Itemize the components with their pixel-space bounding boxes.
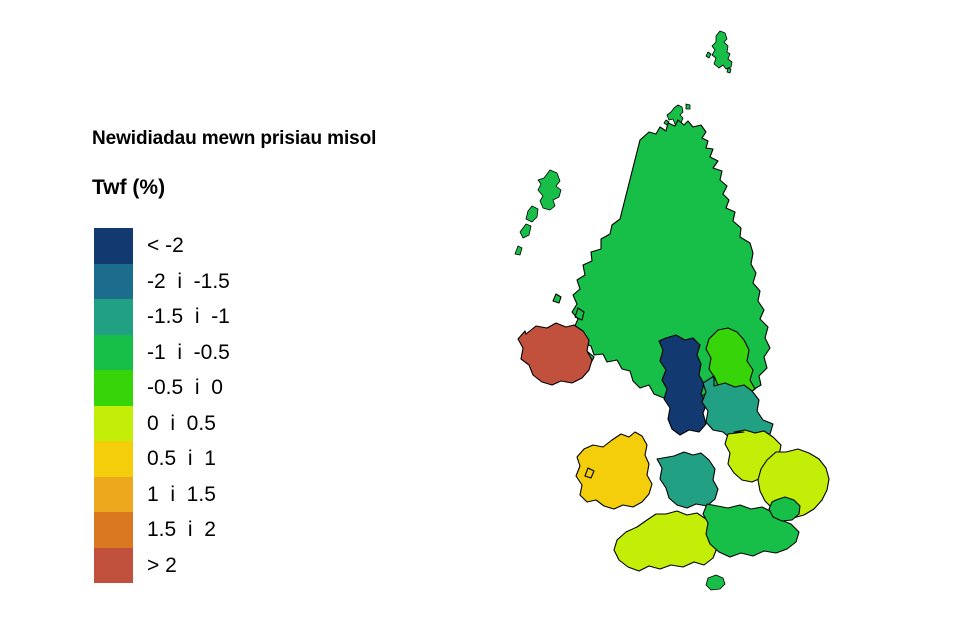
region-northern-ireland[interactable] — [518, 323, 592, 385]
legend-swatch-icon — [94, 441, 133, 477]
legend-item-label: -1.5 i -1 — [133, 306, 230, 327]
legend-item-label: -2 i -1.5 — [133, 271, 230, 292]
legend-item-label: 0.5 i 1 — [133, 448, 216, 469]
legend-item[interactable]: -1.5 i -1 — [94, 299, 230, 335]
legend-item[interactable]: -1 i -0.5 — [94, 335, 230, 371]
region-wales[interactable] — [576, 432, 652, 509]
region-scotland-shetland[interactable] — [706, 31, 732, 73]
legend-swatch-icon — [94, 548, 133, 584]
legend-item[interactable]: -0.5 i 0 — [94, 370, 230, 406]
legend-swatch-icon — [94, 370, 133, 406]
legend-title: Twf (%) — [92, 176, 422, 200]
legend-item[interactable]: 0 i 0.5 — [94, 406, 230, 442]
legend-item-label: -1 i -0.5 — [133, 342, 230, 363]
legend-item[interactable]: < -2 — [94, 228, 230, 264]
legend-swatch-icon — [94, 335, 133, 371]
legend-swatch-icon — [94, 512, 133, 548]
region-west-midlands[interactable] — [657, 452, 718, 508]
uk-choropleth-map — [470, 8, 950, 632]
legend-item-label: 1.5 i 2 — [133, 519, 216, 540]
legend-swatch-icon — [94, 264, 133, 300]
legend-item-label: < -2 — [133, 235, 184, 256]
legend-item-label: -0.5 i 0 — [133, 377, 223, 398]
legend-panel: Newidiadau mewn prisiau misol Twf (%) < … — [92, 128, 422, 200]
map-figure: Newidiadau mewn prisiau misol Twf (%) < … — [0, 0, 960, 640]
region-isle-of-wight[interactable] — [706, 575, 725, 590]
legend-item-label: 0 i 0.5 — [133, 413, 216, 434]
legend-item[interactable]: 0.5 i 1 — [94, 441, 230, 477]
legend-swatch-icon — [94, 477, 133, 513]
legend-item[interactable]: 1 i 1.5 — [94, 477, 230, 513]
legend-item-label: > 2 — [133, 555, 177, 576]
legend-item[interactable]: 1.5 i 2 — [94, 512, 230, 548]
legend-swatch-icon — [94, 299, 133, 335]
region-scotland-outer-hebrides[interactable] — [515, 170, 561, 255]
legend-swatch-icon — [94, 228, 133, 264]
page-title: Newidiadau mewn prisiau misol — [92, 128, 422, 150]
region-london[interactable] — [769, 497, 800, 521]
legend-swatch-icon — [94, 406, 133, 442]
legend-scale: < -2 -2 i -1.5 -1.5 i -1 -1 i -0.5 -0.5 … — [94, 228, 230, 583]
legend-item[interactable]: > 2 — [94, 548, 230, 584]
region-south-west-england[interactable] — [614, 511, 717, 571]
legend-item-label: 1 i 1.5 — [133, 484, 216, 505]
legend-item[interactable]: -2 i -1.5 — [94, 264, 230, 300]
